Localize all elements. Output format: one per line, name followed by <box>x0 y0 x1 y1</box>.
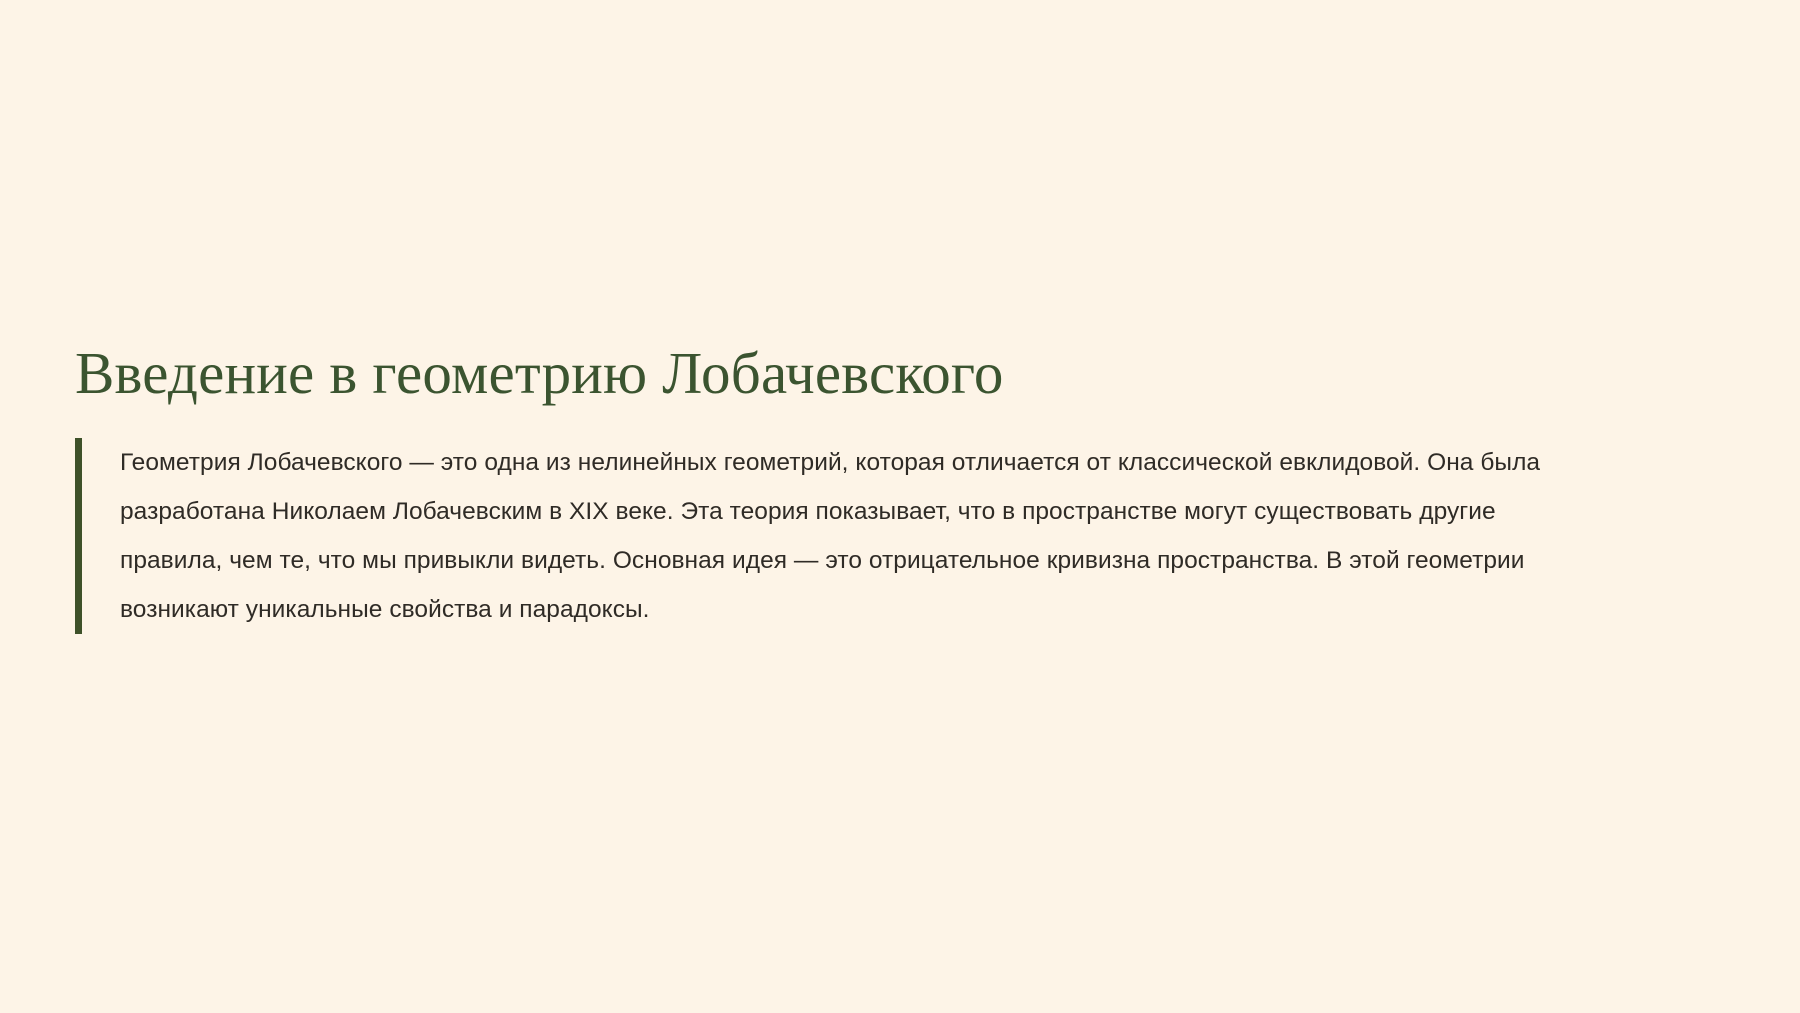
accent-bar <box>75 438 82 634</box>
quote-block: Геометрия Лобачевского — это одна из нел… <box>75 438 1635 634</box>
article-container: Введение в геометрию Лобачевского Геомет… <box>75 340 1725 634</box>
page-canvas: Введение в геометрию Лобачевского Геомет… <box>0 0 1800 1013</box>
intro-paragraph: Геометрия Лобачевского — это одна из нел… <box>120 438 1595 634</box>
page-title: Введение в геометрию Лобачевского <box>75 340 1725 406</box>
